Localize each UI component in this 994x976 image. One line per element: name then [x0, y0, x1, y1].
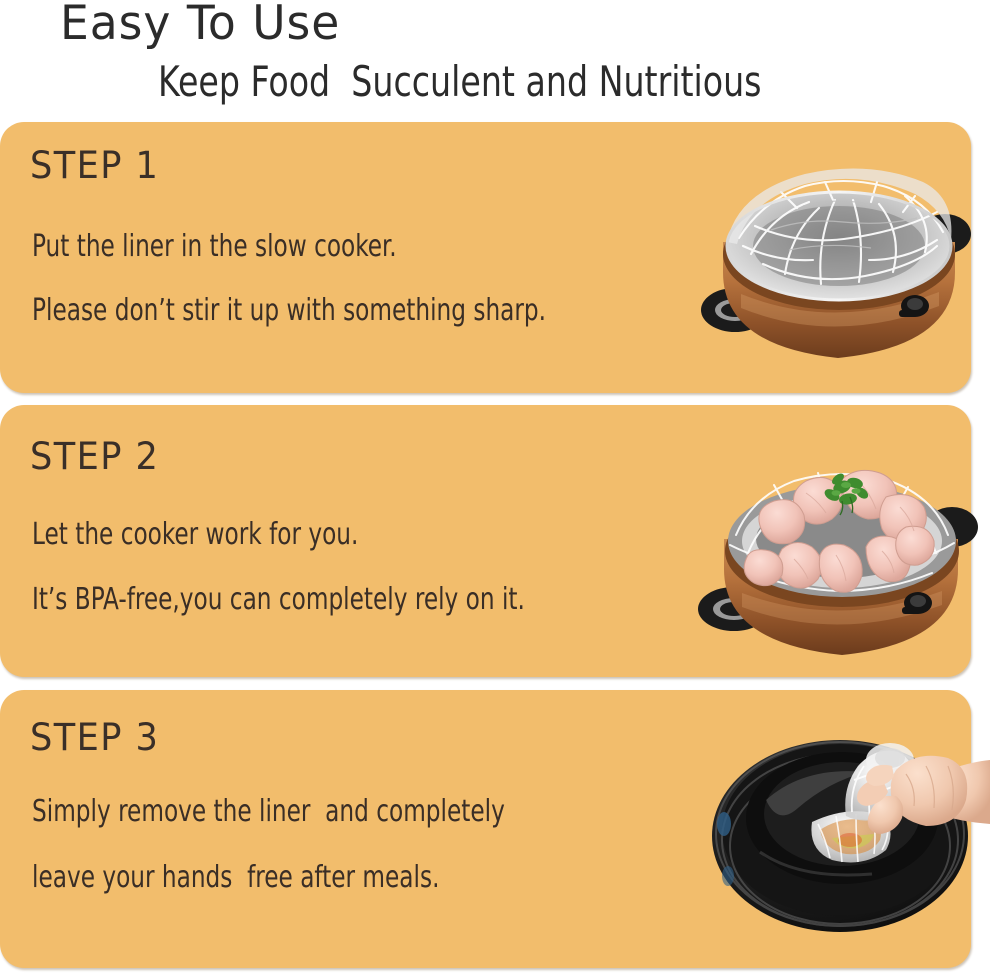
step-card-3: STEP 3 Simply remove the liner and compl… [0, 690, 971, 968]
header: Easy To Use Keep Food Succulent and Nutr… [0, 0, 994, 118]
step-1-text-line-1: Put the liner in the slow cooker. [32, 229, 397, 264]
step-1-text-line-2: Please don’t stir it up with something s… [32, 293, 546, 328]
step-label-1: STEP 1 [30, 144, 159, 187]
step-label-2: STEP 2 [30, 435, 159, 478]
page-title: Easy To Use [60, 0, 340, 51]
step-3-text-line-2: leave your hands free after meals. [32, 860, 439, 895]
step-3-text-line-1: Simply remove the liner and completely [32, 794, 505, 829]
step-2-text-line-2: It’s BPA-free,you can completely rely on… [32, 582, 525, 617]
step-card-1: STEP 1 Put the liner in the slow cooker.… [0, 122, 971, 393]
page-subtitle: Keep Food Succulent and Nutritious [158, 57, 762, 106]
slow-cooker-with-liner-photo [693, 134, 983, 384]
step-card-2: STEP 2 Let the cooker work for you. It’s… [0, 405, 971, 677]
removing-liner-bag-photo [700, 704, 990, 954]
step-label-3: STEP 3 [30, 716, 159, 759]
step-2-text-line-1: Let the cooker work for you. [32, 517, 358, 552]
slow-cooker-with-chicken-photo [690, 423, 990, 675]
